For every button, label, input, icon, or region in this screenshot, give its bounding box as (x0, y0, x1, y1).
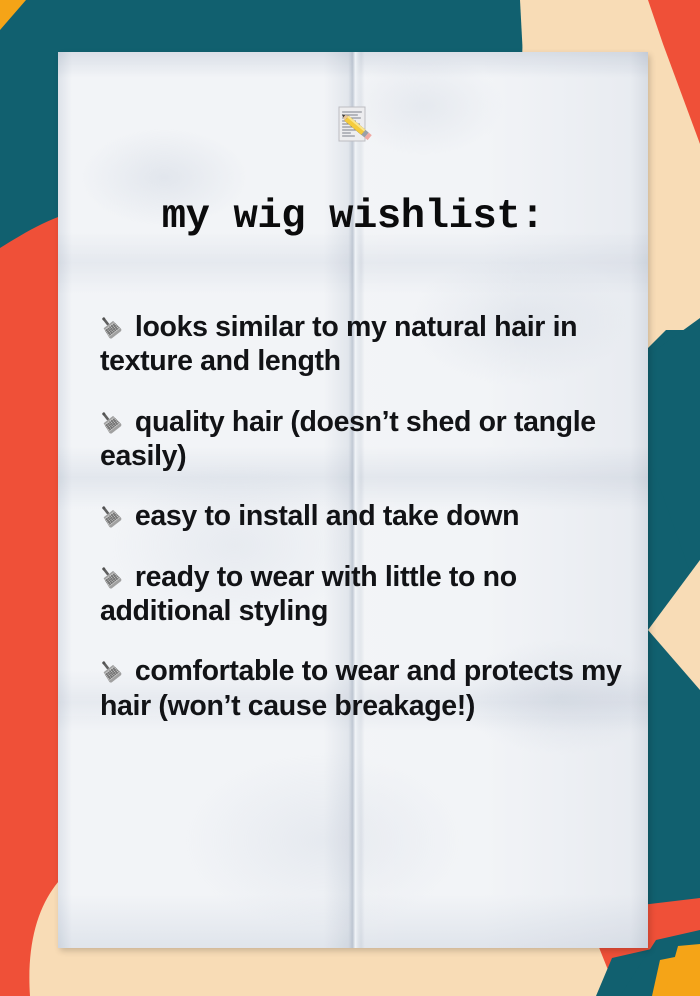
hair-pick-comb-icon (100, 563, 135, 593)
hair-pick-comb-icon (100, 502, 135, 532)
wishlist: looks similar to my natural hair in text… (100, 310, 626, 723)
page-title: my wig wishlist: (58, 194, 648, 240)
list-item-label: comfortable to wear and protects my hair… (100, 655, 622, 721)
list-item: looks similar to my natural hair in text… (100, 310, 626, 379)
list-item-label: easy to install and take down (135, 500, 519, 532)
list-item: easy to install and take down (100, 499, 626, 533)
list-item: ready to wear with little to no addition… (100, 560, 626, 629)
note-content: my wig wishlist: (58, 52, 648, 948)
list-item: comfortable to wear and protects my hair… (100, 654, 626, 723)
list-item-label: quality hair (doesn’t shed or tangle eas… (100, 406, 596, 472)
list-item: quality hair (doesn’t shed or tangle eas… (100, 405, 626, 474)
paper-sheet: my wig wishlist: (58, 52, 648, 948)
memo-note-with-pencil-icon (58, 102, 648, 155)
hair-pick-comb-icon (100, 657, 135, 687)
hair-pick-comb-icon (100, 313, 135, 343)
list-item-label: looks similar to my natural hair in text… (100, 311, 577, 377)
hair-pick-comb-icon (100, 408, 135, 438)
list-item-label: ready to wear with little to no addition… (100, 561, 517, 627)
